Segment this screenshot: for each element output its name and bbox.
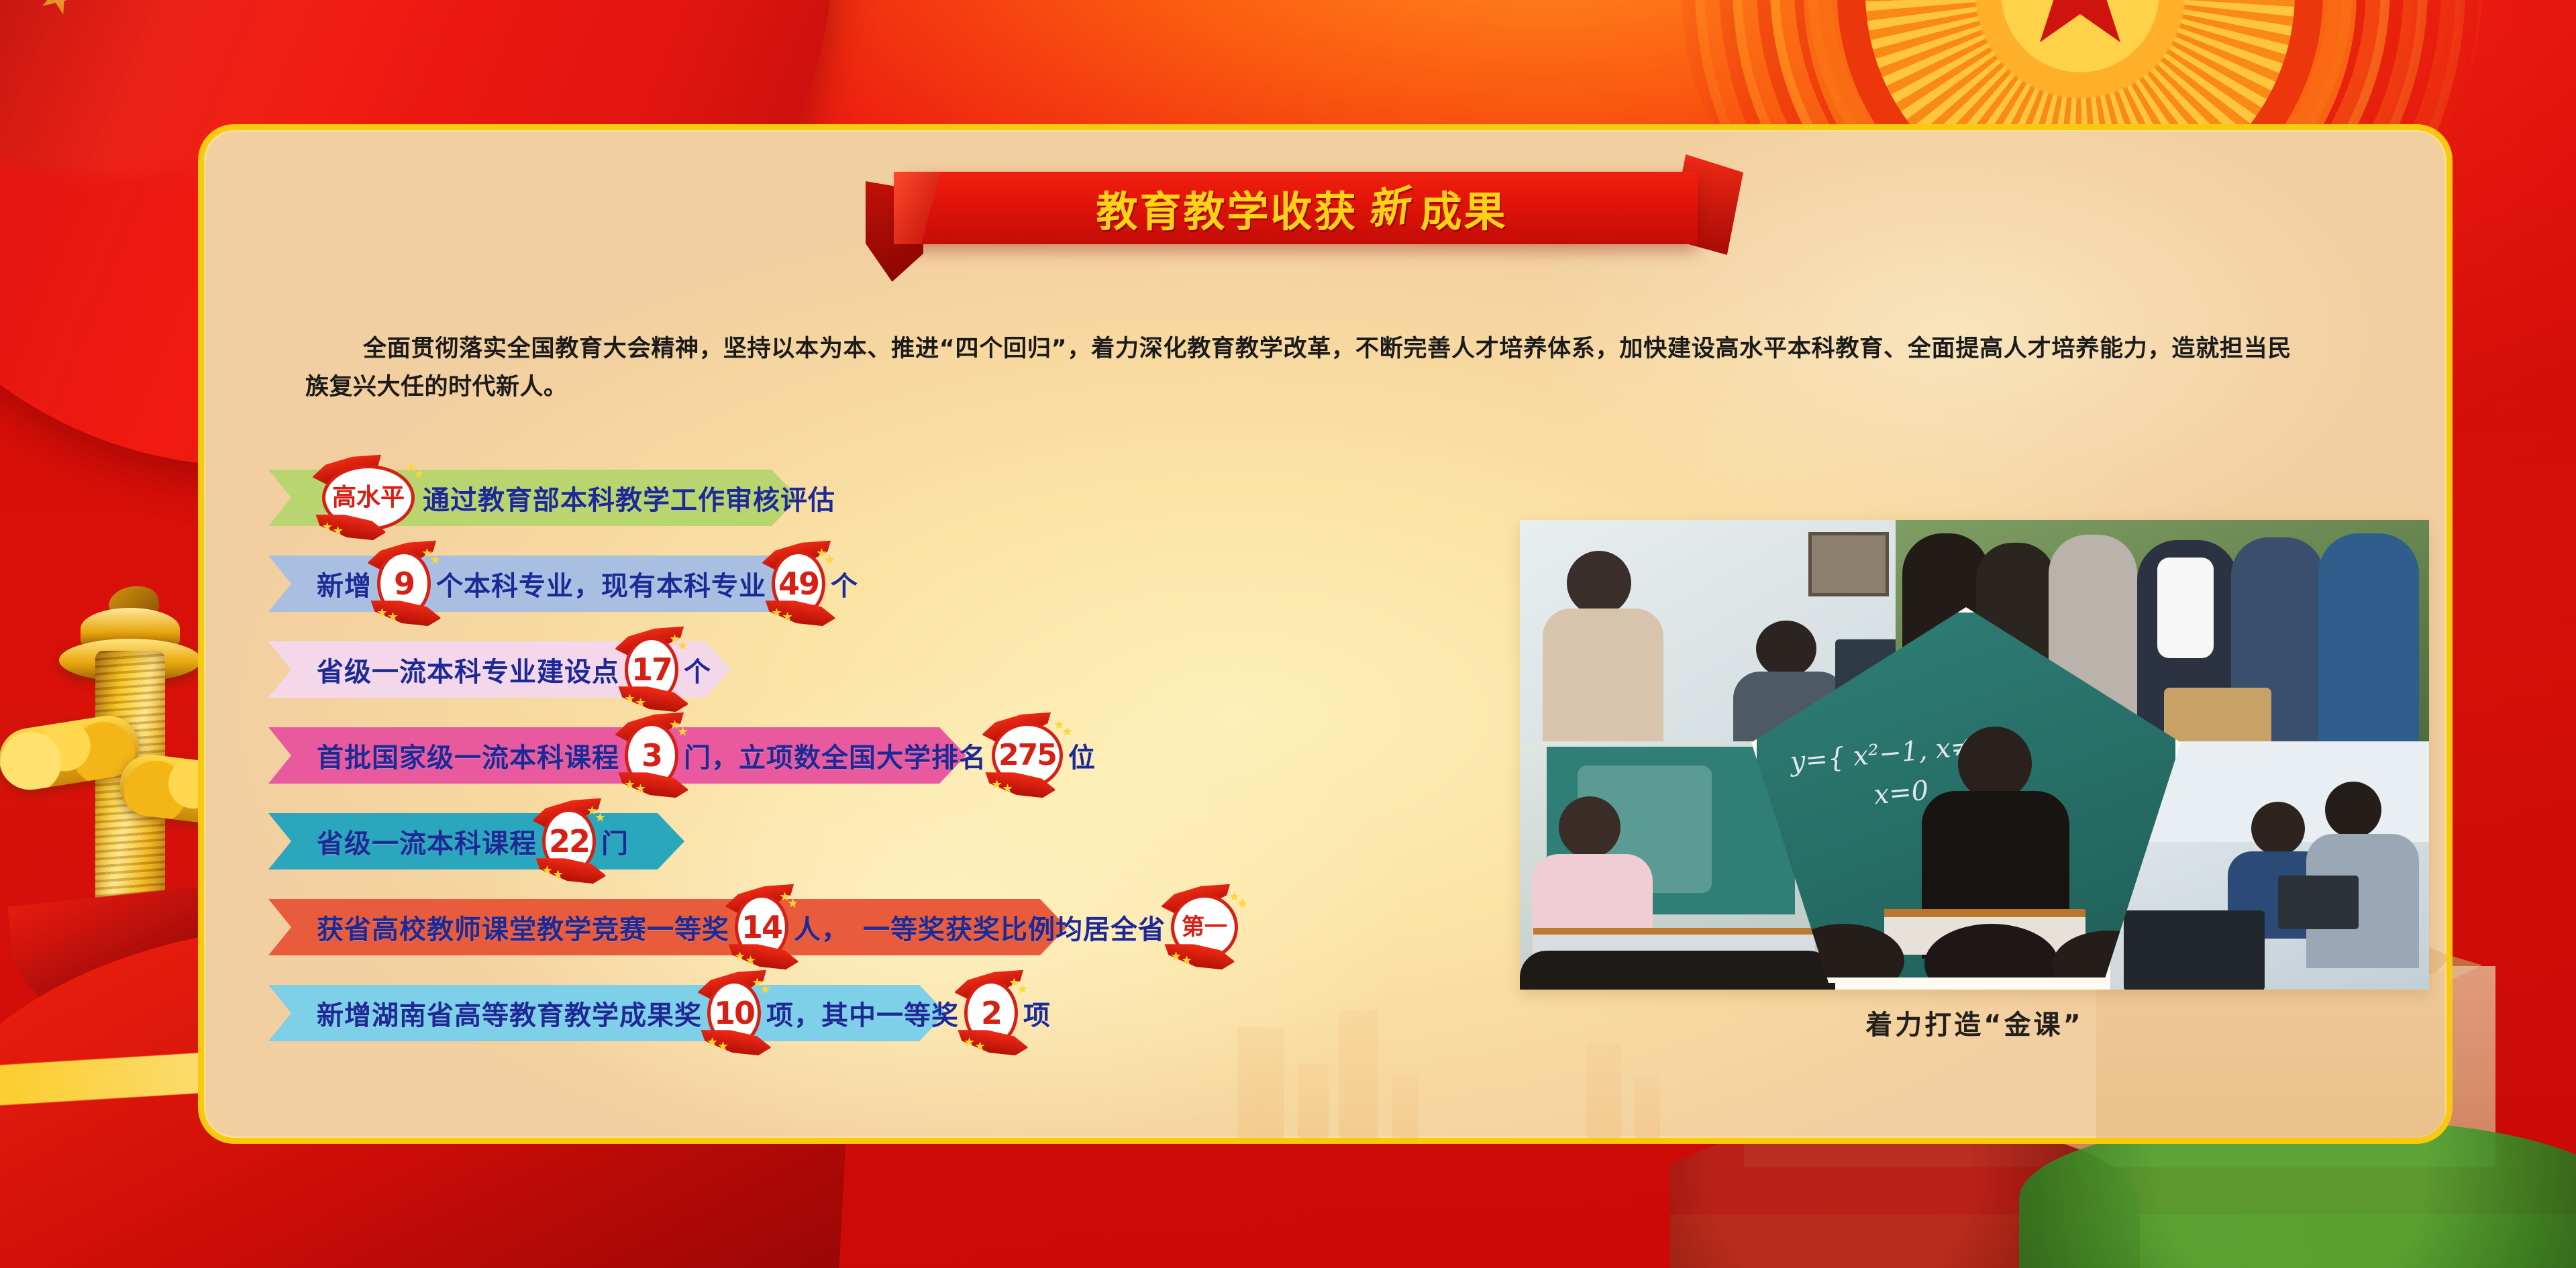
badge-value: 2 (981, 998, 1001, 1028)
achievement-value-badge: 10 (703, 976, 765, 1050)
star-icon (1237, 898, 1247, 908)
intro-text: 全面贯彻落实全国教育大会精神，坚持以本为本、推进“四个回归”，着力深化教育教学改… (305, 330, 2291, 406)
badge-value: 14 (741, 912, 782, 943)
achievement-text-segment: 新增 (317, 564, 372, 603)
achievement-text-segment: 首批国家级一流本科课程 (317, 736, 619, 775)
achievement-text-segment: 项，其中一等奖 (766, 994, 959, 1033)
achievement-row-text: 高水平通过教育部本科教学工作审核评估 (268, 461, 835, 535)
star-icon (1054, 720, 1064, 730)
achievement-text-segment: 新增湖南省高等教育教学成果奖 (317, 994, 702, 1033)
achievement-value-badge: 14 (731, 890, 792, 964)
star-icon (2013, 0, 2147, 55)
achievement-row: 新增湖南省高等教育教学成果奖10项，其中一等奖2项 (268, 985, 1543, 1041)
achievement-text-segment: 个 (831, 564, 858, 603)
badge-value: 49 (778, 568, 819, 599)
achievement-row-text: 省级一流本科课程22门 (268, 804, 629, 878)
achievement-text-segment: 门 (601, 822, 629, 861)
achievement-row-text: 获省高校教师课堂教学竞赛一等奖14人， 一等奖获奖比例均居全省第一 (268, 890, 1243, 964)
badge-value: 22 (549, 826, 589, 857)
star-icon (595, 812, 605, 823)
achievement-text-segment: 获省高校教师课堂教学竞赛一等奖 (317, 908, 729, 947)
achievement-row-text: 省级一流本科专业建设点17个 (268, 633, 711, 706)
photo-caption: 着力打造“金课” (1520, 1003, 2429, 1042)
star-icon (678, 641, 688, 651)
star-icon (414, 469, 424, 479)
achievement-text-segment: 省级一流本科专业建设点 (317, 650, 619, 689)
achievement-row-text: 新增9个本科专业，现有本科专业49个 (268, 547, 858, 621)
achievement-value-badge: 22 (538, 804, 600, 878)
achievement-row: 获省高校教师课堂教学竞赛一等奖14人， 一等奖获奖比例均居全省第一 (268, 899, 1543, 955)
star-icon (760, 984, 770, 994)
achievement-text-segment: 通过教育部本科教学工作审核评估 (423, 478, 835, 517)
achievement-text-segment: 个 (684, 650, 711, 689)
achievement-text-segment: 位 (1068, 736, 1096, 775)
achievement-row: 首批国家级一流本科课程3门，立项数全国大学排名275位 (268, 727, 1543, 784)
achievement-text-segment: 门，立项数全国大学排名 (684, 736, 986, 775)
title-suffix: 成果 (1421, 178, 1508, 238)
achievement-value-badge: 275 (988, 719, 1067, 792)
achievement-row: 省级一流本科课程22门 (268, 813, 1543, 869)
achievement-row: 高水平通过教育部本科教学工作审核评估 (268, 470, 1543, 526)
achievement-value-badge: 3 (621, 719, 682, 792)
title-ribbon: 教育教学收获 新 成果 (866, 172, 1738, 246)
star-icon (1017, 984, 1027, 994)
achievement-text-segment: 个本科专业，现有本科专业 (436, 564, 766, 603)
intro-paragraph: 全面贯彻落实全国教育大会精神，坚持以本为本、推进“四个回归”，着力深化教育教学改… (305, 330, 2291, 406)
poster-canvas: 中华人民共和国万岁 世界人民大团结万岁 教育教学收获 新 成果 全面 (0, 0, 2576, 1268)
star-icon (788, 898, 798, 908)
achievement-row-text: 新增湖南省高等教育教学成果奖10项，其中一等奖2项 (268, 976, 1051, 1050)
badge-value: 第一 (1182, 916, 1227, 939)
achievement-text-segment: 人， 一等奖获奖比例均居全省 (794, 908, 1166, 947)
achievement-value-badge: 高水平 (318, 461, 419, 535)
badge-value: 9 (394, 568, 414, 599)
title-prefix: 教育教学收获 (1096, 178, 1357, 238)
star-icon (678, 727, 688, 737)
achievement-list: 高水平通过教育部本科教学工作审核评估新增9个本科专业，现有本科专业49个省级一流… (268, 470, 1543, 1071)
badge-value: 高水平 (332, 486, 405, 510)
badge-value: 3 (641, 740, 662, 771)
badge-value: 10 (714, 998, 754, 1028)
achievement-text-segment: 省级一流本科课程 (317, 822, 537, 861)
achievement-row: 省级一流本科专业建设点17个 (268, 641, 1543, 698)
achievement-value-badge: 2 (960, 976, 1022, 1050)
achievement-row: 新增9个本科专业，现有本科专业49个 (268, 556, 1543, 612)
achievement-value-badge: 第一 (1167, 890, 1242, 964)
star-icon (430, 555, 440, 565)
title-accent: 新 (1363, 171, 1414, 236)
achievement-text-segment: 项 (1023, 994, 1051, 1033)
panel-gate-watermark (2096, 970, 2445, 1138)
star-icon (825, 555, 835, 565)
badge-value: 275 (998, 741, 1056, 770)
star-icon (1062, 727, 1072, 737)
page-title: 教育教学收获 新 成果 (906, 172, 1698, 244)
achievement-value-badge: 17 (621, 633, 682, 706)
star-icon (406, 462, 416, 472)
photo-collage: y={ x²−1, x≠0x=0 (1520, 520, 2429, 990)
badge-value: 17 (631, 654, 672, 685)
achievement-value-badge: 49 (768, 547, 829, 621)
achievement-value-badge: 9 (373, 547, 435, 621)
achievement-row-text: 首批国家级一流本科课程3门，立项数全国大学排名275位 (268, 719, 1096, 792)
star-icon (1229, 892, 1239, 902)
